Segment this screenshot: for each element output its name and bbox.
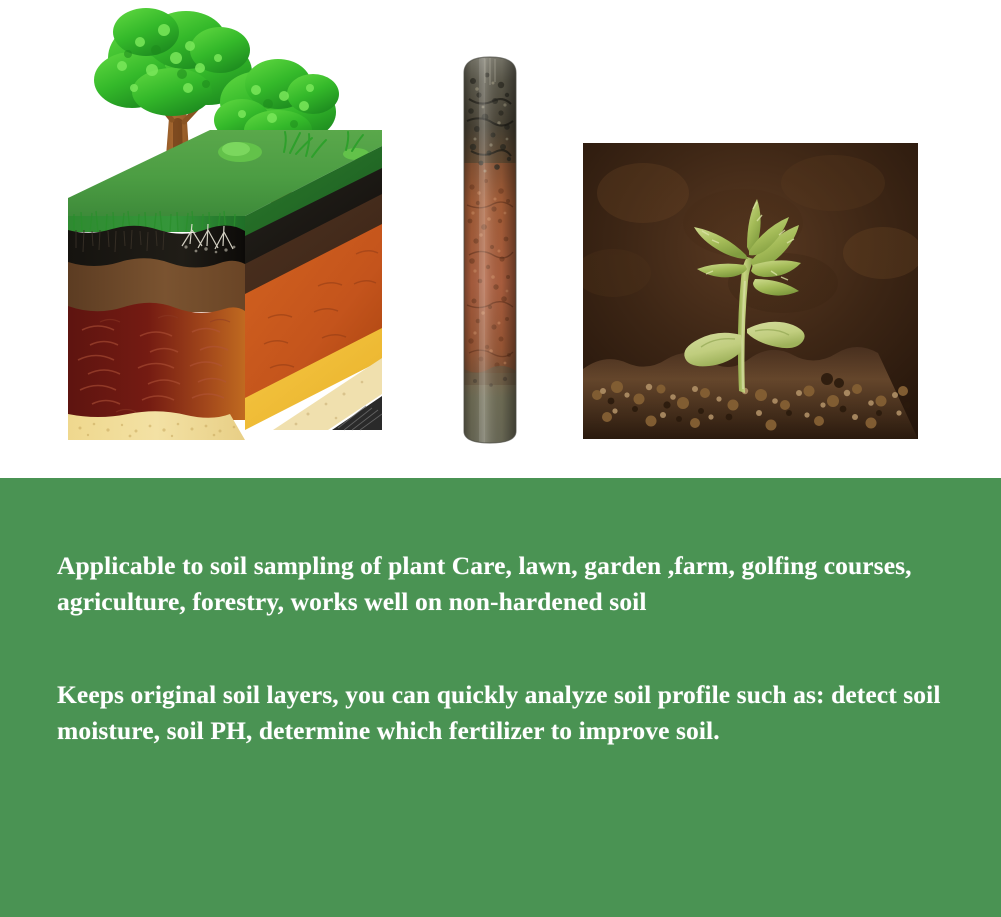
feature-paragraph-applications: Applicable to soil sampling of plant Car… — [57, 548, 962, 620]
soil-profile-illustration — [60, 0, 390, 445]
image-strip — [0, 0, 1001, 478]
feature-panel: Applicable to soil sampling of plant Car… — [0, 478, 1001, 917]
soil-core-sample-photo — [461, 55, 519, 445]
seedling-photo — [583, 143, 918, 439]
product-feature-page: Applicable to soil sampling of plant Car… — [0, 0, 1001, 917]
feature-text-block: Applicable to soil sampling of plant Car… — [57, 548, 962, 749]
feature-paragraph-soil-layers: Keeps original soil layers, you can quic… — [57, 677, 962, 749]
